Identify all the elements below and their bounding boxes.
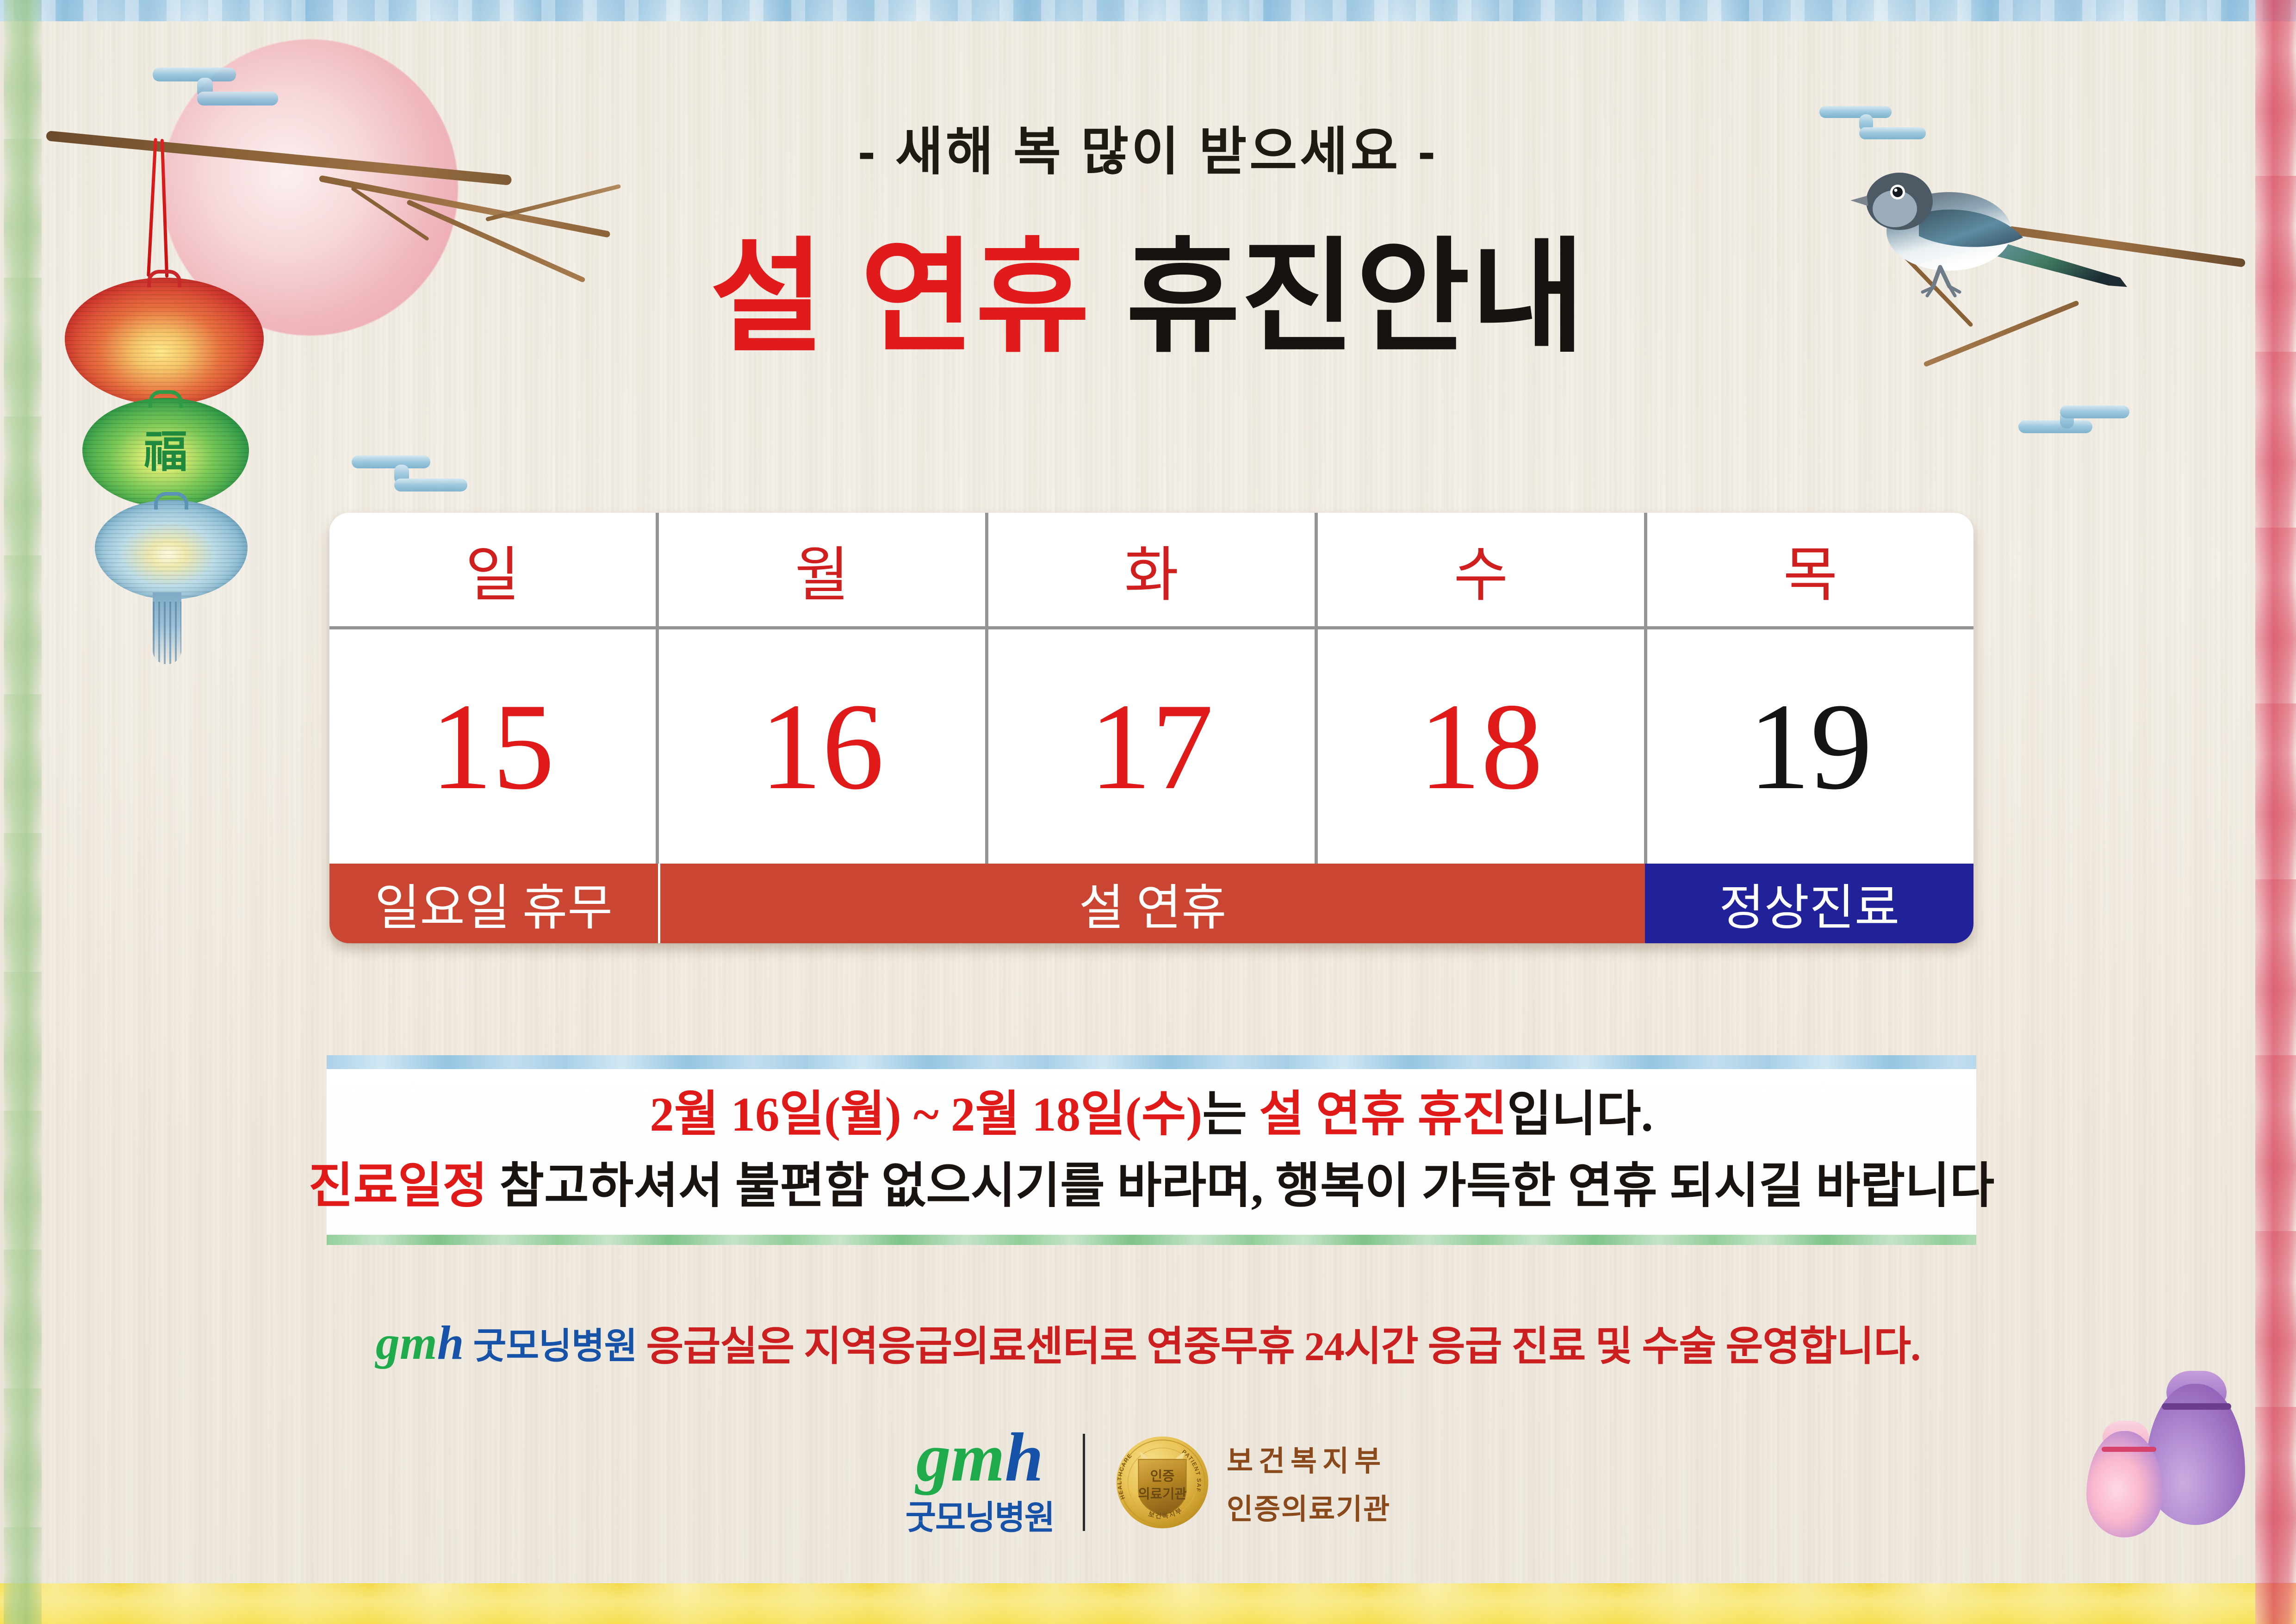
- branch-twig-icon: [485, 184, 621, 222]
- notice-holiday-closed: 설 연휴 휴진: [1259, 1087, 1507, 1141]
- emergency-room-notice: gmh 굿모닝병원 응급실은 지역응급의료센터로 연중무휴 24시간 응급 진료…: [0, 1313, 2296, 1372]
- cloud-icon: [153, 65, 273, 109]
- calendar-dates-row: 15 16 17 18 19: [329, 629, 1973, 864]
- gmh-letter-h: h: [437, 1316, 464, 1369]
- calendar-header-row: 일 월 화 수 목: [329, 513, 1973, 629]
- weekday-header-wed: 수: [1318, 513, 1647, 626]
- weekday-header-mon: 월: [659, 513, 988, 626]
- notice-line-2: 진료일정 참고하셔서 불편함 없으시기를 바라며, 행복이 가득한 연휴 되시길…: [309, 1150, 1995, 1222]
- gmh-letter-g: g: [376, 1316, 400, 1369]
- notice-box: 2월 16일(월) ~ 2월 18일(수)는 설 연휴 휴진입니다. 진료일정 …: [327, 1055, 1976, 1245]
- footer-logos: gmh 굿모닝병원: [0, 1425, 2296, 1539]
- holiday-calendar-table: 일 월 화 수 목 15 16 17 18 19 일요일 휴무 설 연휴 정상진…: [329, 513, 1973, 943]
- page-title: 설 연휴 휴진안내: [0, 231, 2296, 363]
- calendar-date-18: 18: [1318, 629, 1647, 864]
- lantern-green-icon: 福: [82, 398, 249, 507]
- seal-center-line1: 인증: [1150, 1469, 1175, 1484]
- poster-canvas: 福: [0, 0, 2296, 1624]
- title-red-part: 설 연휴: [710, 228, 1091, 367]
- lantern-blue-icon: [95, 500, 248, 599]
- notice-schedule-keyword: 진료일정: [309, 1159, 487, 1213]
- hospital-name-footer: 굿모닝병원: [906, 1490, 1054, 1539]
- cert-line-2: 인증의료기관: [1227, 1486, 1390, 1527]
- calendar-date-16: 16: [659, 629, 988, 864]
- status-lunar-holiday: 설 연휴: [660, 864, 1645, 943]
- emergency-text: 응급실은 지역응급의료센터로 연중무휴 24시간 응급 진료 및 수술 운영합니…: [646, 1313, 1920, 1372]
- cloud-icon: [2018, 403, 2129, 444]
- poster-subtitle: - 새해 복 많이 받으세요 -: [0, 126, 2296, 178]
- calendar-date-17: 17: [988, 629, 1318, 864]
- status-sunday-closed: 일요일 휴무: [329, 864, 660, 943]
- status-normal-service: 정상진료: [1645, 864, 1973, 943]
- certification-seal-icon: 인증 의료기관 HEALTHCARE QUALITY PATIENT SAFET…: [1114, 1434, 1211, 1531]
- cert-line-1: 보건복지부: [1227, 1437, 1390, 1479]
- gmh-letter-h: h: [1005, 1419, 1043, 1496]
- seal-center-line2: 의료기관: [1138, 1487, 1186, 1501]
- footer-divider: [1083, 1434, 1085, 1531]
- notice-line-1: 2월 16일(월) ~ 2월 18일(수)는 설 연휴 휴진입니다.: [650, 1078, 1653, 1150]
- lucky-bag-tie-icon: [2162, 1403, 2231, 1410]
- notice-wish-text: 참고하셔서 불편함 없으시기를 바라며, 행복이 가득한 연휴 되시길 바랍니다: [487, 1159, 1994, 1213]
- notice-particle-1: 는: [1202, 1087, 1259, 1141]
- lucky-bag-purple-neck: [2166, 1371, 2227, 1407]
- certification-text: 보건복지부 인증의료기관: [1227, 1437, 1390, 1527]
- gmh-letter-g: g: [916, 1419, 951, 1496]
- calendar-status-row: 일요일 휴무 설 연휴 정상진료: [329, 864, 1973, 943]
- cloud-icon: [352, 454, 467, 496]
- weekday-header-tue: 화: [988, 513, 1318, 626]
- gmh-logo: gmh: [916, 1425, 1043, 1489]
- border-band-bottom: [0, 1583, 2296, 1624]
- title-black-part: 휴진안내: [1126, 228, 1586, 367]
- fu-character: 福: [143, 429, 187, 473]
- hospital-name-inline: 굿모닝병원: [473, 1317, 637, 1369]
- weekday-header-sun: 일: [329, 513, 659, 626]
- gmh-logo-block: gmh 굿모닝병원: [906, 1425, 1054, 1539]
- lantern-tassel-icon: [153, 592, 181, 664]
- gmh-logo-inline: gmh: [376, 1319, 464, 1367]
- weekday-header-thu: 목: [1647, 513, 1973, 626]
- calendar-date-19: 19: [1647, 629, 1973, 864]
- notice-date-range: 2월 16일(월) ~ 2월 18일(수): [650, 1087, 1202, 1141]
- calendar-date-15: 15: [329, 629, 659, 864]
- branch-twig-icon: [319, 175, 611, 238]
- certification-block: 인증 의료기관 HEALTHCARE QUALITY PATIENT SAFET…: [1114, 1434, 1390, 1531]
- gmh-letter-m: m: [951, 1419, 1005, 1496]
- border-band-top: [0, 0, 2296, 21]
- notice-suffix-1: 입니다.: [1507, 1087, 1653, 1141]
- gmh-letter-m: m: [400, 1316, 437, 1369]
